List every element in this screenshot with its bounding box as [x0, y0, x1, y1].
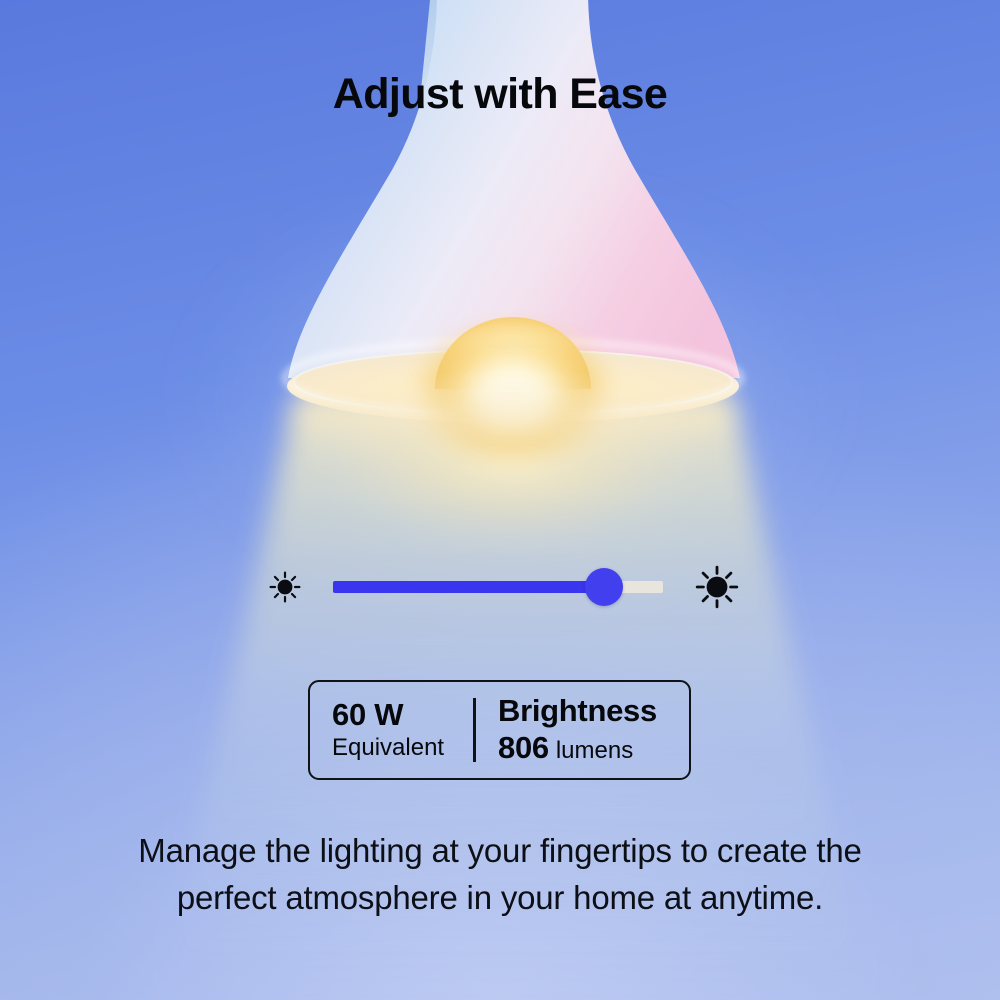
slider-track-fill — [333, 581, 604, 593]
spec-wattage: 60 W Equivalent — [310, 682, 473, 778]
brightness-label: Brightness — [498, 693, 689, 730]
spec-box: 60 W Equivalent Brightness 806 lumens — [308, 680, 691, 780]
promo-image: Adjust with Ease — [0, 0, 1000, 1000]
brightness-value: 806 — [498, 730, 549, 767]
brightness-slider[interactable] — [333, 567, 663, 607]
slider-thumb[interactable] — [585, 568, 623, 606]
spec-brightness: Brightness 806 lumens — [476, 682, 689, 778]
caption-line-1: Manage the lighting at your fingertips t… — [60, 828, 940, 875]
brightness-unit: lumens — [556, 737, 633, 766]
wattage-value: 60 W — [332, 697, 473, 734]
sun-small-icon — [268, 570, 302, 604]
brightness-value-row: 806 lumens — [498, 730, 689, 767]
sun-large-icon — [694, 564, 740, 610]
brightness-control-row — [268, 556, 740, 618]
wattage-label: Equivalent — [332, 734, 473, 763]
caption: Manage the lighting at your fingertips t… — [60, 828, 940, 922]
caption-line-2: perfect atmosphere in your home at anyti… — [60, 875, 940, 922]
page-title: Adjust with Ease — [0, 72, 1000, 117]
